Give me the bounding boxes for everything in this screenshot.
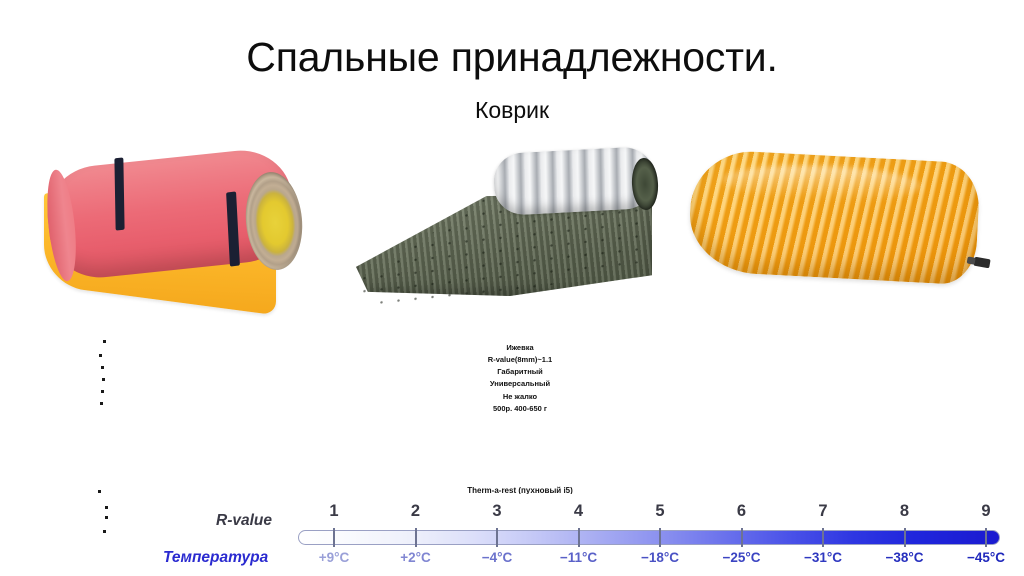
spec-line: Не жалко [418, 391, 622, 403]
spec-line: Универсальный [418, 378, 622, 390]
inflatable-pad-valve [973, 257, 990, 269]
page-subtitle: Коврик [0, 97, 1024, 124]
temperature-label: −18°C [641, 550, 679, 565]
spec-line: 500р. 400-650 г [418, 403, 622, 415]
rvalue-scale-track-wrap [298, 530, 1000, 546]
spec-line: R-value(8mm)~1.1 [418, 354, 622, 366]
scale-tick [822, 528, 824, 547]
rvalue-number: 6 [737, 502, 746, 521]
bullet-dot [103, 340, 106, 343]
temperature-label: −4°C [482, 550, 513, 565]
temperature-label: −11°C [560, 550, 597, 565]
bullet-list-upper [98, 338, 114, 406]
scale-tick [741, 528, 743, 547]
temperature-label: +9°C [319, 550, 350, 565]
rvalue-scale-panel: R-value Температура 123456789 +9°C+2°C−4… [143, 494, 1024, 576]
bullet-dot [102, 378, 105, 381]
spec-line: Ижевка [418, 342, 622, 354]
bullet-dot [99, 354, 102, 357]
temperature-row-label: Температура [163, 549, 268, 567]
scale-tick [985, 528, 987, 547]
rvalue-row-label: R-value [216, 512, 272, 530]
rvalue-number: 7 [818, 502, 827, 521]
bullet-dot [101, 366, 104, 369]
rvalue-number: 9 [981, 502, 990, 521]
bullet-dot [100, 402, 103, 405]
scale-tick [333, 528, 335, 547]
rvalue-number: 4 [574, 502, 583, 521]
scale-tick [904, 528, 906, 547]
page-title: Спальные принадлежности. [0, 36, 1024, 79]
scale-tick [659, 528, 661, 547]
bullet-dot [105, 506, 108, 509]
product-image-foil-mat [356, 148, 676, 303]
temperature-label: −38°C [885, 550, 923, 565]
bullet-dot [101, 390, 104, 393]
bullet-dot [105, 516, 108, 519]
rvalue-number: 5 [655, 502, 664, 521]
temperature-label: −25°C [722, 550, 760, 565]
temperature-label: +2°C [400, 550, 431, 565]
scale-tick [415, 528, 417, 547]
product-image-inflatable-pad [688, 150, 998, 305]
temperature-label: −31°C [804, 550, 842, 565]
rvalue-number: 8 [900, 502, 909, 521]
product-image-foam-roll [30, 150, 330, 310]
rvalue-number: 3 [492, 502, 501, 521]
scale-tick [496, 528, 498, 547]
temperature-label: −45°C [967, 550, 1005, 565]
bullet-dot [103, 530, 106, 533]
scale-tick [578, 528, 580, 547]
bullet-list-lower [98, 490, 114, 536]
rvalue-gradient-track [298, 530, 1000, 545]
spec-text-block: Ижевка R-value(8mm)~1.1 Габаритный Униве… [418, 342, 622, 415]
spec-line: Габаритный [418, 366, 622, 378]
foam-roll-strap-left [114, 157, 124, 230]
rvalue-number: 2 [411, 502, 420, 521]
rvalue-number: 1 [329, 502, 338, 521]
bullet-dot [98, 490, 101, 493]
